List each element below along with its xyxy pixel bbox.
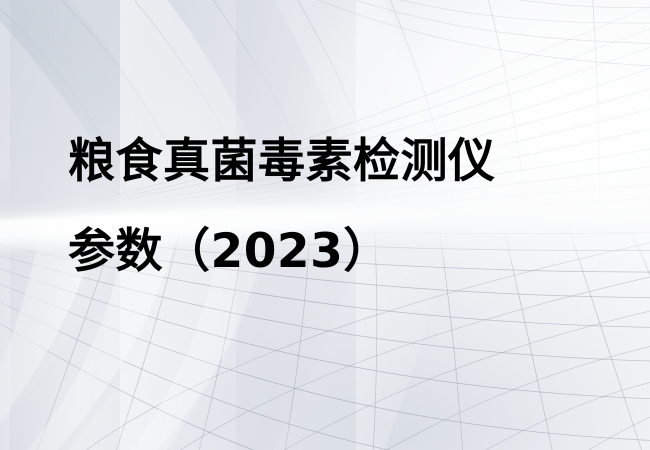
title-line-2: 参数（2023） (68, 228, 628, 275)
title-banner: 粮食真菌毒素检测仪 参数（2023） (0, 0, 650, 450)
title-line-1: 粮食真菌毒素检测仪 (68, 138, 628, 185)
banner-title: 粮食真菌毒素检测仪 参数（2023） (68, 138, 628, 275)
